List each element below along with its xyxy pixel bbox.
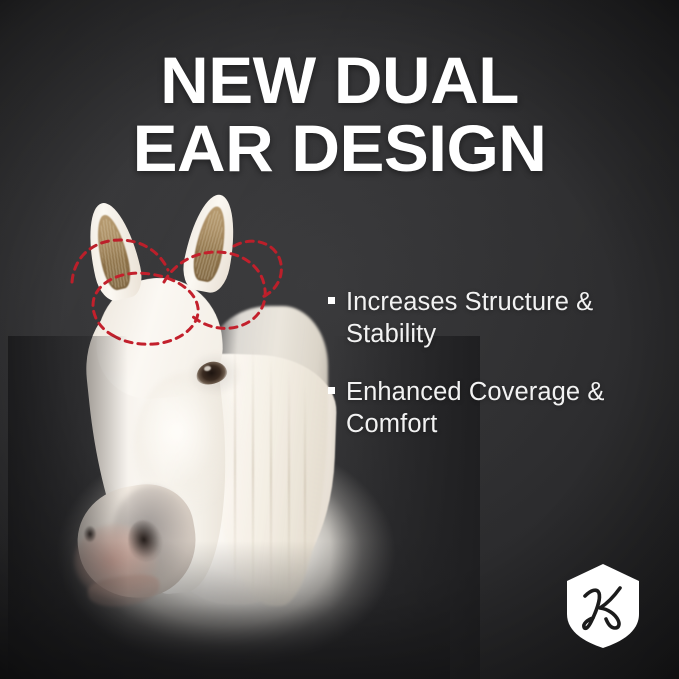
list-item: Increases Structure & Stability — [328, 286, 648, 350]
kavallerie-shield-logo-icon — [563, 562, 643, 650]
headline-line-1: NEW DUAL — [0, 48, 679, 113]
feature-list: Increases Structure & Stability Enhanced… — [328, 286, 648, 441]
page-title: NEW DUAL EAR DESIGN — [0, 48, 679, 180]
square-bullet-icon — [328, 297, 335, 304]
promo-graphic: NEW DUAL EAR DESIGN Increases Structure … — [0, 0, 679, 679]
brand-logo — [563, 562, 643, 650]
list-item: Enhanced Coverage & Comfort — [328, 376, 648, 440]
feature-text: Increases Structure & Stability — [346, 286, 648, 350]
square-bullet-icon — [328, 387, 335, 394]
headline-line-2: EAR DESIGN — [0, 116, 679, 181]
feature-text: Enhanced Coverage & Comfort — [346, 376, 648, 440]
